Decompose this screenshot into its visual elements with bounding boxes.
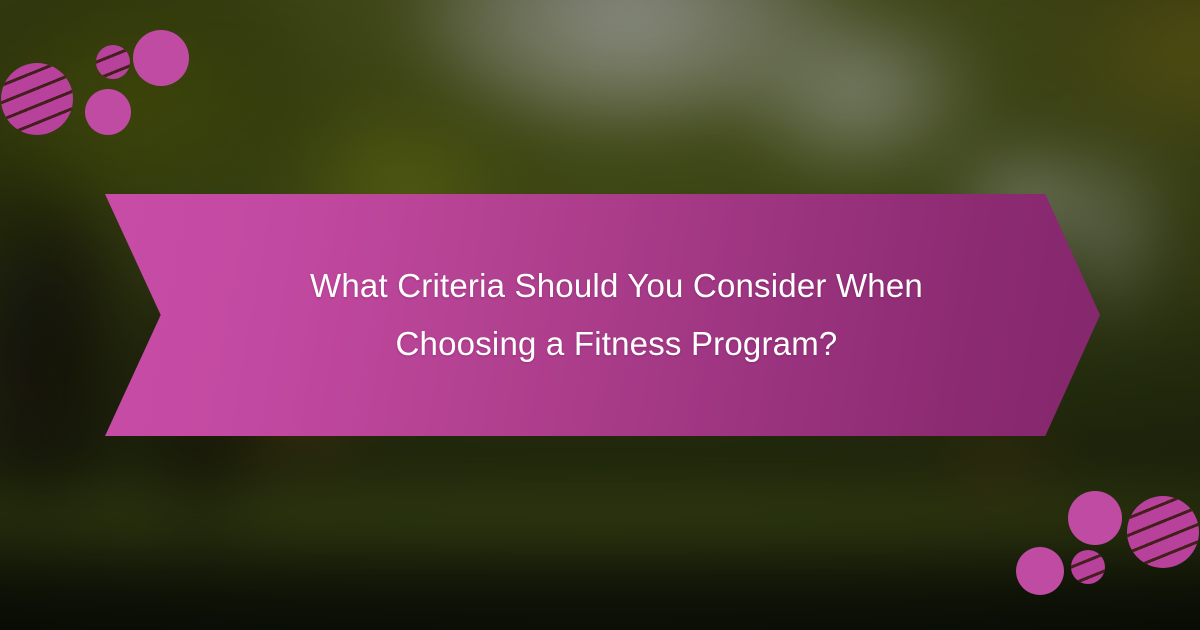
deco-circle-plain-medium	[1016, 547, 1064, 595]
deco-circle-plain-large	[1068, 491, 1122, 545]
title-banner: What Criteria Should You Consider When C…	[105, 194, 1100, 436]
page-title: What Criteria Should You Consider When C…	[251, 257, 983, 373]
deco-circle-striped-small	[1071, 550, 1105, 584]
title-banner-inner: What Criteria Should You Consider When C…	[223, 257, 983, 373]
deco-circle-striped-large	[1127, 496, 1199, 568]
share-card: What Criteria Should You Consider When C…	[0, 0, 1200, 630]
